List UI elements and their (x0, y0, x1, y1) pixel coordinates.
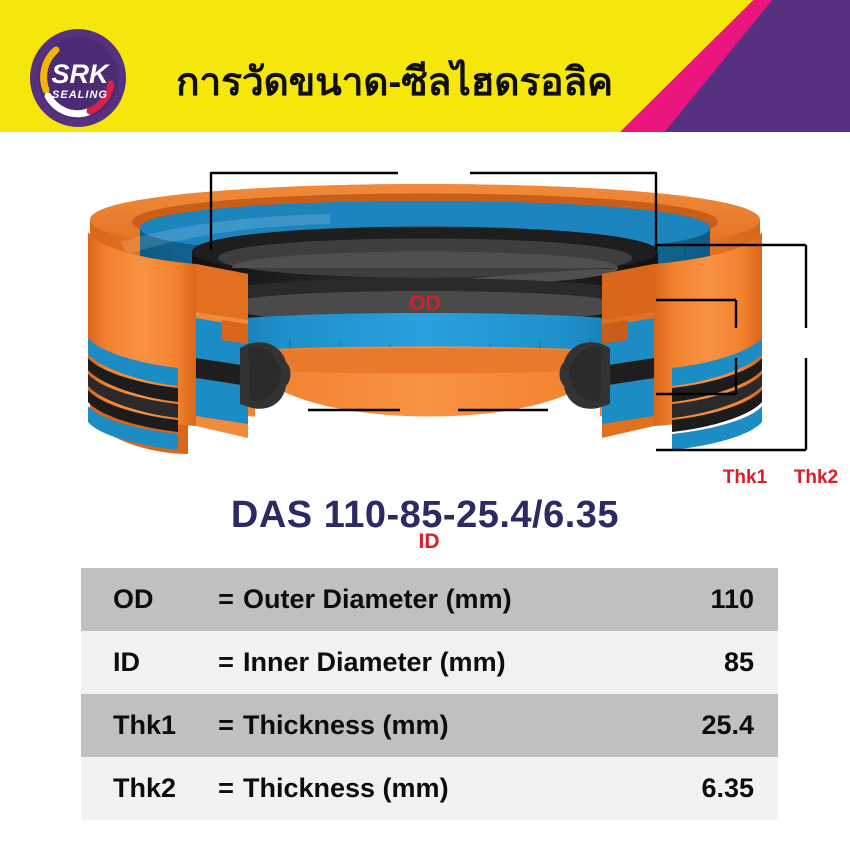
svg-text:SRK: SRK (51, 59, 111, 89)
row-key: Thk2 (81, 757, 209, 820)
table-row: Thk1 = Thickness (mm) 25.4 (81, 694, 778, 757)
row-value: 110 (659, 568, 778, 631)
table-row: OD = Outer Diameter (mm) 110 (81, 568, 778, 631)
seal-body (88, 184, 762, 462)
spec-table-body: OD = Outer Diameter (mm) 110 ID = Inner … (81, 568, 778, 820)
row-description: Outer Diameter (mm) (243, 568, 659, 631)
seal-diagram: OD ID Thk1 Thk2 (0, 132, 850, 482)
row-key: OD (81, 568, 209, 631)
row-key: Thk1 (81, 694, 209, 757)
row-key: ID (81, 631, 209, 694)
page-title: การวัดขนาด-ซีลไฮดรอลิค (176, 50, 696, 116)
row-description: Thickness (mm) (243, 694, 659, 757)
row-description: Thickness (mm) (243, 757, 659, 820)
row-value: 85 (659, 631, 778, 694)
spec-table: OD = Outer Diameter (mm) 110 ID = Inner … (81, 568, 778, 820)
srk-sealing-logo-icon: SRK SEALING (28, 28, 128, 128)
table-row: ID = Inner Diameter (mm) 85 (81, 631, 778, 694)
row-equals: = (209, 694, 243, 757)
row-equals: = (209, 568, 243, 631)
row-value: 6.35 (659, 757, 778, 820)
page-header: SRK SEALING การวัดขนาด-ซีลไฮดรอลิค (0, 0, 850, 132)
thk1-label: Thk1 (723, 467, 767, 489)
row-equals: = (209, 757, 243, 820)
svg-text:SEALING: SEALING (52, 89, 108, 101)
product-name: DAS 110-85-25.4/6.35 (0, 494, 850, 537)
row-equals: = (209, 631, 243, 694)
od-label: OD (409, 292, 441, 316)
row-value: 25.4 (659, 694, 778, 757)
row-description: Inner Diameter (mm) (243, 631, 659, 694)
table-row: Thk2 = Thickness (mm) 6.35 (81, 757, 778, 820)
thk2-label: Thk2 (794, 467, 838, 489)
